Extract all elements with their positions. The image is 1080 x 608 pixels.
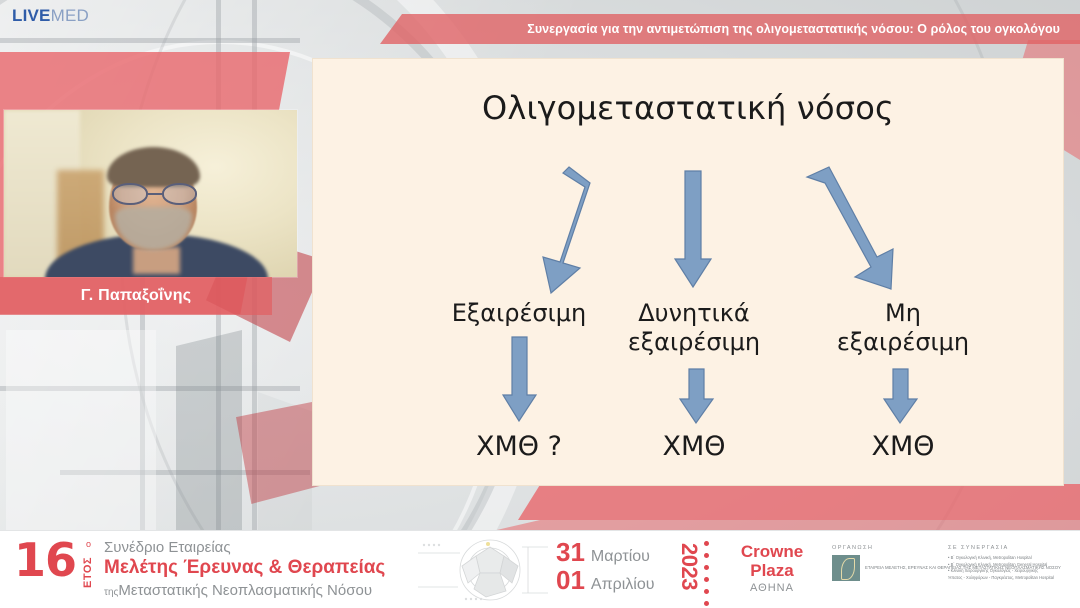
background-gridline — [60, 470, 310, 475]
venue-city: ΑΘΗΝΑ — [724, 582, 820, 594]
glasses-left-lens — [112, 183, 148, 205]
video-glasses — [112, 183, 197, 205]
conference-edition-ordinal: ο — [86, 539, 91, 549]
node-chemo-resectable-label: ΧΜΘ ? — [476, 431, 562, 462]
speaker-video-feed[interactable] — [4, 110, 297, 277]
conference-date-month: Μαρτίου — [591, 549, 650, 565]
cooperation-item: • Β΄ Ογκολογική Κλινική, Metropolitan Ho… — [948, 555, 1072, 562]
conference-date-day: 01 — [556, 567, 585, 593]
logo-live-text: LIVE — [12, 6, 51, 25]
cooperation-caption: ΣΕ ΣΥΝΕΡΓΑΣΙΑ — [948, 545, 1072, 551]
conference-venue: Crowne Plaza ΑΘΗΝΑ — [724, 543, 820, 594]
node-chemo-unresectable-label: ΧΜΘ — [871, 431, 934, 462]
conference-date-month: Απριλίου — [591, 577, 655, 593]
glasses-right-lens — [162, 183, 198, 205]
node-resectable-label: Εξαιρέσιμη — [452, 299, 587, 327]
footer-dot-divider — [704, 541, 709, 608]
speaker-nameplate: Γ. Παπαξοΐνης — [0, 277, 272, 315]
background-shape — [176, 330, 242, 530]
conference-line1: Συνέδριο Εταιρείας — [104, 539, 231, 556]
logo-med-text: MED — [51, 6, 89, 25]
background-gridline — [0, 38, 300, 43]
conference-line3-article: της — [104, 587, 118, 598]
screen: LIVEMED Συνεργασία για την αντιμετώπιση … — [0, 0, 1080, 608]
background-shape — [6, 330, 156, 530]
cooperation-block: ΣΕ ΣΥΝΕΡΓΑΣΙΑ • Β΄ Ογκολογική Κλινική, M… — [948, 545, 1072, 582]
conference-date-row: 31 Μαρτίου — [556, 539, 655, 565]
conference-sphere-graphic — [418, 535, 548, 605]
arrow-to-resectable — [513, 167, 633, 293]
conference-edition-etos: ΕΤΟΣ — [82, 557, 94, 588]
conference-footer-banner: 16 ο ΕΤΟΣ Συνέδριο Εταιρείας Μελέτης Έρε… — [0, 530, 1080, 608]
node-potentially-resectable-label: Δυνητικά εξαιρέσιμη — [628, 299, 760, 356]
presentation-title: Συνεργασία για την αντιμετώπιση της ολιγ… — [527, 22, 1080, 36]
slide-title: Ολιγομεταστατική νόσος — [313, 89, 1063, 127]
conference-line2: Μελέτης Έρευνας & Θεραπείας — [104, 557, 385, 579]
node-chemo-potentially: ΧΜΘ — [599, 431, 789, 464]
arrow-unresectable-to-chemo — [883, 369, 919, 425]
conference-year: 2023 — [676, 543, 702, 590]
venue-line1: Crowne — [724, 543, 820, 562]
cooperation-item: • Κλινική Χειρουργικής Ογκολογίας - Χειρ… — [948, 568, 1072, 575]
node-unresectable: Μη εξαιρέσιμη — [803, 299, 1003, 358]
arrow-resectable-to-chemo — [502, 337, 538, 423]
conference-edition-number: 16 — [14, 537, 76, 583]
background-shape — [258, 392, 312, 530]
conference-line3: τηςΜεταστατικής Νεοπλασματικής Νόσου — [104, 582, 372, 599]
conference-date-day: 31 — [556, 539, 585, 565]
video-neck — [133, 247, 180, 274]
conference-dates: 31 Μαρτίου 01 Απριλίου — [556, 539, 655, 593]
background-gridline — [0, 386, 300, 391]
presentation-title-banner: Συνεργασία για την αντιμετώπιση της ολιγ… — [380, 14, 1080, 44]
node-chemo-unresectable: ΧΜΘ — [803, 431, 1003, 464]
glasses-bridge — [148, 193, 162, 195]
node-potentially-resectable: Δυνητικά εξαιρέσιμη — [599, 299, 789, 358]
node-chemo-resectable: ΧΜΘ ? — [419, 431, 619, 464]
conference-line3-text: Μεταστατικής Νεοπλασματικής Νόσου — [118, 582, 372, 599]
livemed-logo: LIVEMED — [12, 6, 89, 26]
venue-line2: Plaza — [724, 562, 820, 581]
node-resectable: Εξαιρέσιμη — [419, 299, 619, 328]
node-chemo-potentially-label: ΧΜΘ — [662, 431, 725, 462]
cooperation-item: Ήπατος - Χοληφόρων - Παγκρέατος, Metropo… — [948, 575, 1072, 582]
organizer-logo-icon — [832, 555, 860, 581]
decor-red-strip — [518, 484, 1080, 520]
node-unresectable-label: Μη εξαιρέσιμη — [837, 299, 969, 356]
speaker-name: Γ. Παπαξοΐνης — [81, 287, 192, 305]
slide-content: Ολιγομεταστατική νόσος Εξαιρέσιμη Δυνητι… — [312, 58, 1064, 486]
conference-date-row: 01 Απριλίου — [556, 567, 655, 593]
cooperation-item: • Β΄ Ογκολογική Κλινική, Metropolitan Ge… — [948, 562, 1072, 569]
cooperation-list: • Β΄ Ογκολογική Κλινική, Metropolitan Ho… — [948, 555, 1072, 582]
arrow-to-unresectable — [807, 167, 927, 293]
arrow-to-potentially-resectable — [673, 171, 713, 289]
arrow-potentially-to-chemo — [679, 369, 715, 425]
